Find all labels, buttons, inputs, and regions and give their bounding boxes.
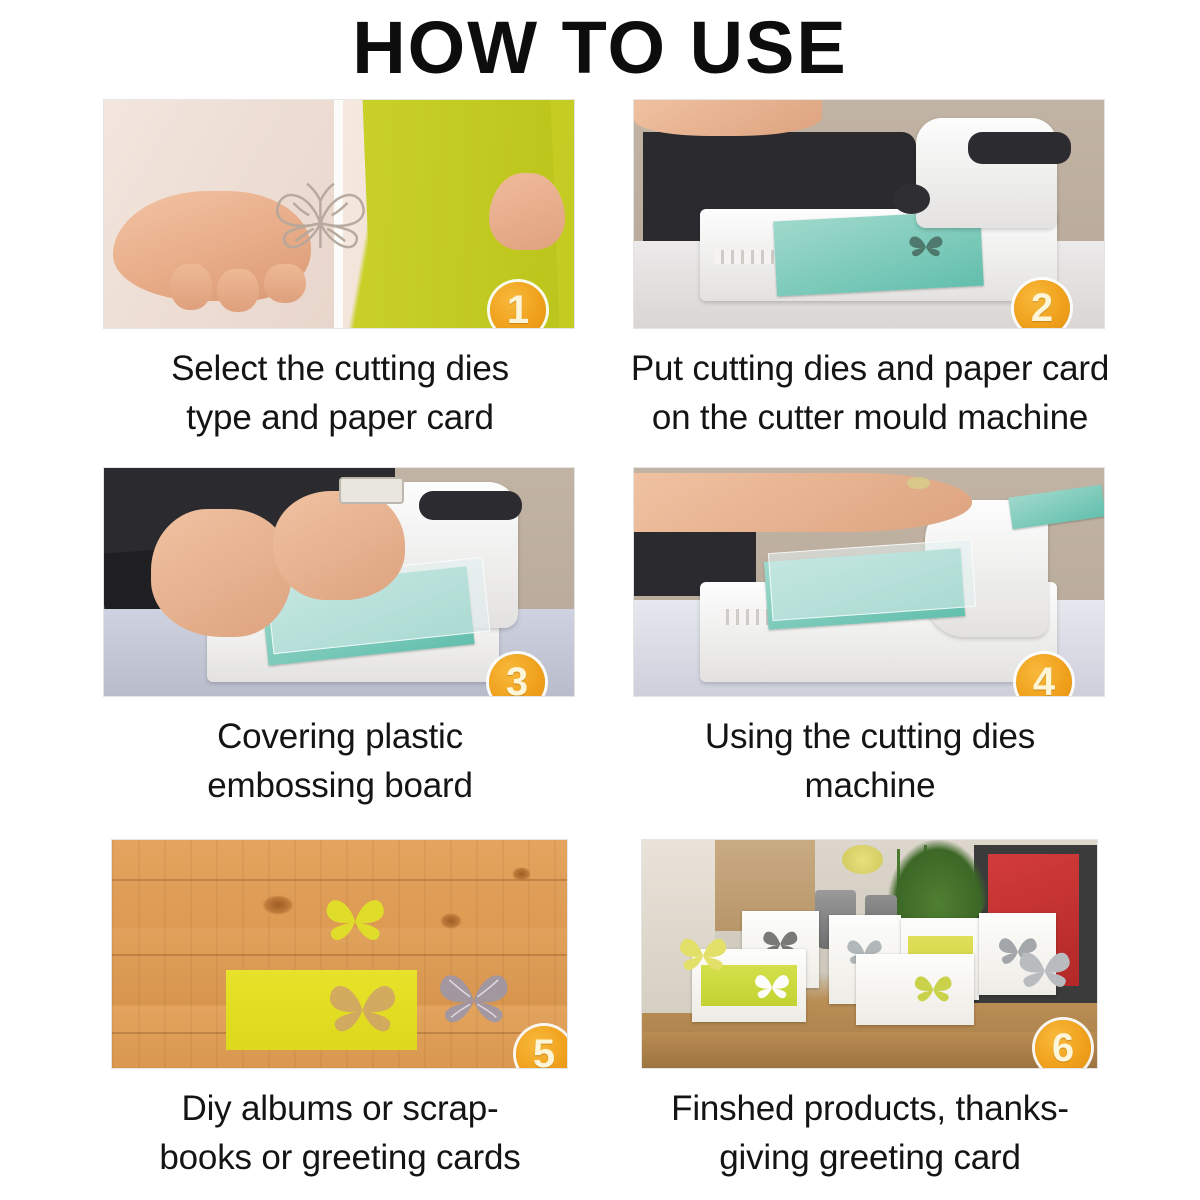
step-4-photo-wrap: 4: [620, 468, 1120, 700]
step-3-photo-wrap: 3: [90, 468, 590, 700]
step-4-caption-line-2: machine: [620, 761, 1120, 810]
step-number-badge-6: 6: [1035, 1020, 1091, 1068]
step-5-caption-line-1: Diy albums or scrap-: [90, 1084, 590, 1133]
step-6: 6 Finshed products, thanks- giving greet…: [620, 840, 1120, 1182]
step-1-photo-wrap: 1: [90, 100, 590, 332]
plank-seam-1: [112, 879, 567, 881]
step-3: 3 Covering plastic embossing board: [90, 468, 590, 810]
silver-butterfly-right-icon: [1006, 940, 1083, 999]
step-6-caption: Finshed products, thanks- giving greetin…: [620, 1084, 1120, 1182]
step-1-caption-line-1: Select the cutting dies: [90, 344, 590, 393]
photo-place-on-machine: 2: [634, 100, 1104, 328]
step-5: 5 Diy albums or scrap- books or greeting…: [90, 840, 590, 1182]
page-title: HOW TO USE: [0, 6, 1200, 90]
photo-cover-embossing-board: 3: [104, 468, 574, 696]
step-2-caption-line-1: Put cutting dies and paper card: [620, 344, 1120, 393]
greeting-card-front-right: [856, 954, 974, 1025]
thumb-holding-card: [489, 173, 564, 251]
photo-use-machine: 4: [634, 468, 1104, 696]
card-front-left-butterfly-icon: [747, 964, 797, 1009]
die-on-plate-icon: [893, 228, 959, 264]
card-front-right-butterfly-icon: [906, 964, 960, 1013]
metal-butterfly-die-icon: [426, 961, 522, 1036]
step-1-caption-line-2: type and paper card: [90, 393, 590, 442]
step-1: 1 Select the cutting dies type and paper…: [90, 100, 590, 442]
yellow-butterfly-cutout-icon: [312, 888, 398, 952]
ring-on-finger: [907, 477, 931, 488]
how-to-use-infographic: HOW TO USE: [0, 0, 1200, 1200]
machine-roller-dark: [968, 132, 1071, 164]
machine-crank-knob: [893, 184, 931, 214]
person-arm: [634, 100, 822, 136]
wrist-watch: [339, 477, 404, 504]
step-3-caption: Covering plastic embossing board: [90, 712, 590, 810]
step-3-caption-line-1: Covering plastic: [90, 712, 590, 761]
plank-seam-2: [112, 954, 567, 956]
photo-diy-results: 5: [112, 840, 567, 1068]
step-6-photo-wrap: 6: [620, 840, 1120, 1072]
step-1-caption: Select the cutting dies type and paper c…: [90, 344, 590, 442]
hand-left: [151, 509, 292, 637]
step-5-photo-wrap: 5: [90, 840, 590, 1072]
wood-knot-1: [262, 895, 294, 916]
step-2: 2 Put cutting dies and paper card on the…: [620, 100, 1120, 442]
butterfly-die-icon: [264, 173, 377, 273]
clear-plastic-cover: [768, 538, 976, 620]
step-4: 4 Using the cutting dies machine: [620, 468, 1120, 810]
step-3-caption-line-2: embossing board: [90, 761, 590, 810]
machine-roller-dark: [419, 491, 522, 521]
butterfly-cutout-hole-icon: [317, 972, 408, 1045]
step-2-caption: Put cutting dies and paper card on the c…: [620, 344, 1120, 442]
photo-select-dies-and-card: 1: [104, 100, 574, 328]
hand-right: [273, 491, 405, 600]
flower-bloom: [842, 845, 883, 875]
step-number-badge-2: 2: [1014, 280, 1070, 328]
step-4-caption: Using the cutting dies machine: [620, 712, 1120, 810]
step-4-caption-line-1: Using the cutting dies: [620, 712, 1120, 761]
step-2-photo-wrap: 2: [620, 100, 1120, 332]
steps-grid: 1 Select the cutting dies type and paper…: [0, 100, 1200, 1200]
finger-1: [170, 264, 212, 310]
wooden-shelf: [642, 1032, 1097, 1068]
step-2-caption-line-2: on the cutter mould machine: [620, 393, 1120, 442]
step-5-caption: Diy albums or scrap- books or greeting c…: [90, 1084, 590, 1182]
wood-knot-2: [440, 913, 463, 929]
step-5-caption-line-2: books or greeting cards: [90, 1133, 590, 1182]
photo-finished-cards: 6: [642, 840, 1097, 1068]
step-6-caption-line-1: Finshed products, thanks-: [620, 1084, 1120, 1133]
wood-knot-3: [512, 867, 530, 881]
step-6-caption-line-2: giving greeting card: [620, 1133, 1120, 1182]
yellow-butterfly-standing-icon: [669, 927, 737, 982]
finger-2: [217, 269, 259, 312]
